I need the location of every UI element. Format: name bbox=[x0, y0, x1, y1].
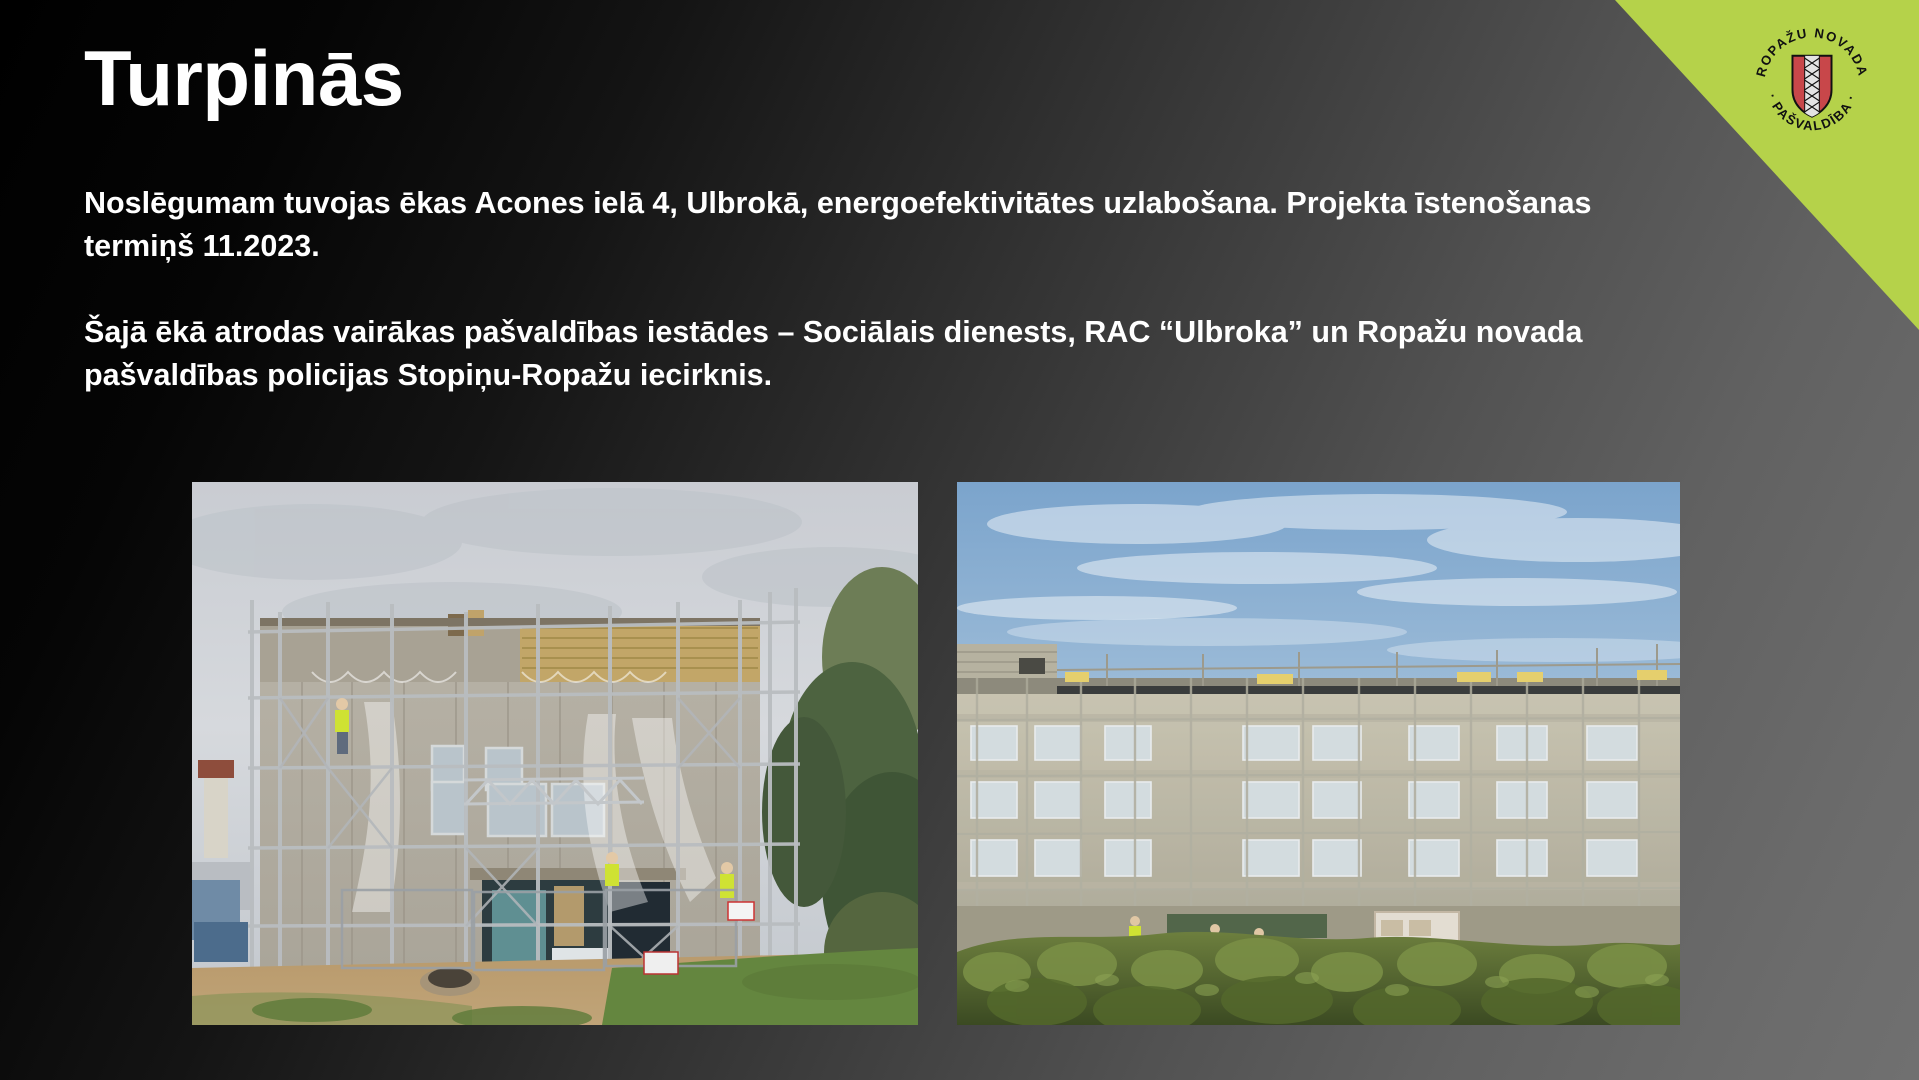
body-paragraph-2: Šajā ēkā atrodas vairākas pašvaldības ie… bbox=[84, 311, 1644, 398]
slide-title: Turpinās bbox=[84, 38, 404, 120]
paragraph-spacer bbox=[84, 269, 1644, 311]
slide: ROPAŽU NOVADA · PAŠVALDĪBA · bbox=[0, 0, 1919, 1080]
ropazu-novada-pasvaldiba-logo: ROPAŽU NOVADA · PAŠVALDĪBA · bbox=[1751, 24, 1873, 146]
slide-body: Noslēgumam tuvojas ēkas Acones ielā 4, U… bbox=[84, 182, 1644, 397]
body-paragraph-1: Noslēgumam tuvojas ēkas Acones ielā 4, U… bbox=[84, 182, 1644, 269]
photo-building-scaffolding-long bbox=[957, 482, 1680, 1025]
photo-building-scaffolding-front bbox=[192, 482, 918, 1025]
